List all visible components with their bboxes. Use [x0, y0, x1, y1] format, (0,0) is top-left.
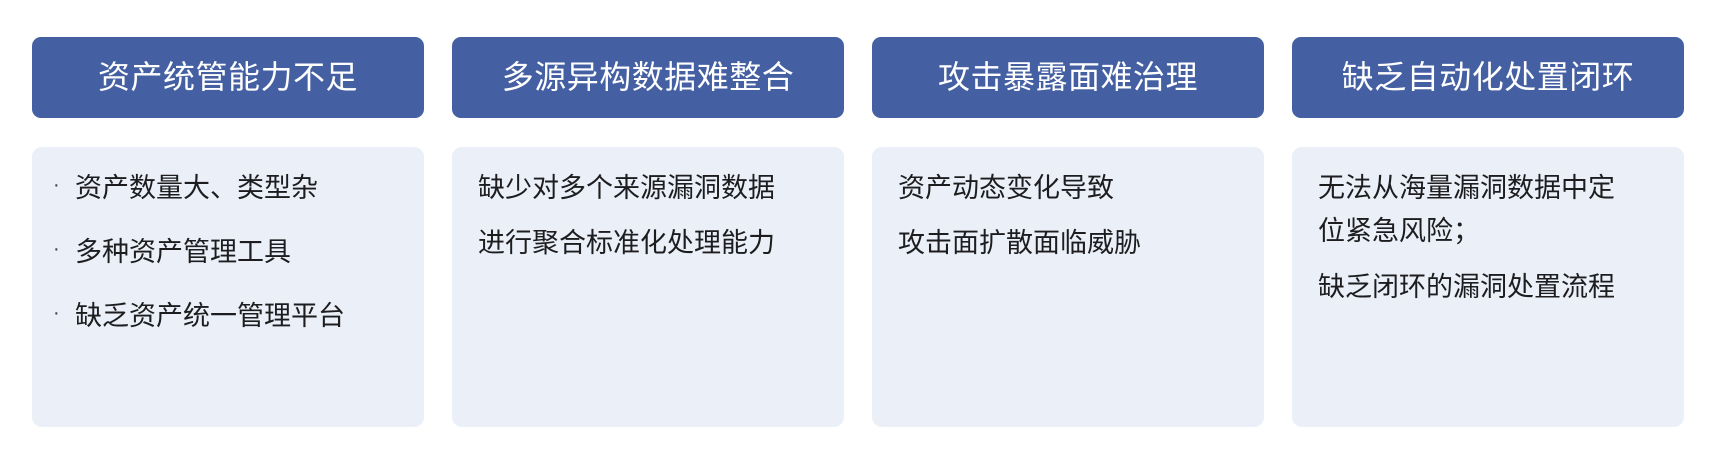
text-line: 缺乏闭环的漏洞处置流程 — [1318, 272, 1666, 303]
card-body-automation-closed-loop: 无法从海量漏洞数据中定 位紧急风险； 缺乏闭环的漏洞处置流程 — [1292, 147, 1684, 427]
text-block-automation-closed-loop: 无法从海量漏洞数据中定 位紧急风险； 缺乏闭环的漏洞处置流程 — [1306, 173, 1670, 303]
list-item: · 资产数量大、类型杂 — [46, 173, 410, 204]
text-line: 进行聚合标准化处理能力 — [478, 228, 826, 259]
list-item: · 缺乏资产统一管理平台 — [46, 301, 410, 332]
bullet-list-asset-governance: · 资产数量大、类型杂 · 多种资产管理工具 · 缺乏资产统一管理平台 — [46, 173, 410, 332]
list-item: · 多种资产管理工具 — [46, 237, 410, 268]
card-header-asset-governance: 资产统管能力不足 — [32, 37, 424, 118]
text-line: 无法从海量漏洞数据中定 — [1318, 173, 1666, 204]
card-multi-source-data: 多源异构数据难整合 缺少对多个来源漏洞数据 进行聚合标准化处理能力 — [452, 37, 844, 427]
card-body-asset-governance: · 资产数量大、类型杂 · 多种资产管理工具 · 缺乏资产统一管理平台 — [32, 147, 424, 427]
card-body-multi-source-data: 缺少对多个来源漏洞数据 进行聚合标准化处理能力 — [452, 147, 844, 427]
text-line: 资产动态变化导致 — [898, 173, 1246, 204]
card-header-automation-closed-loop: 缺乏自动化处置闭环 — [1292, 37, 1684, 118]
list-item-label: 缺乏资产统一管理平台 — [75, 301, 410, 332]
text-line: 攻击面扩散面临威胁 — [898, 228, 1246, 259]
card-header-multi-source-data: 多源异构数据难整合 — [452, 37, 844, 118]
bullet-point-icon: · — [53, 301, 75, 326]
text-line: 位紧急风险； — [1318, 216, 1666, 247]
card-header-attack-surface: 攻击暴露面难治理 — [872, 37, 1264, 118]
text-line: 缺少对多个来源漏洞数据 — [478, 173, 826, 204]
card-attack-surface: 攻击暴露面难治理 资产动态变化导致 攻击面扩散面临威胁 — [872, 37, 1264, 427]
problem-cards-board: 资产统管能力不足 · 资产数量大、类型杂 · 多种资产管理工具 · 缺乏资产统一… — [0, 0, 1712, 458]
card-body-attack-surface: 资产动态变化导致 攻击面扩散面临威胁 — [872, 147, 1264, 427]
card-asset-governance: 资产统管能力不足 · 资产数量大、类型杂 · 多种资产管理工具 · 缺乏资产统一… — [32, 37, 424, 427]
bullet-point-icon: · — [53, 173, 75, 198]
list-item-label: 资产数量大、类型杂 — [75, 173, 410, 204]
text-block-attack-surface: 资产动态变化导致 攻击面扩散面临威胁 — [886, 173, 1250, 260]
list-item-label: 多种资产管理工具 — [75, 237, 410, 268]
text-block-multi-source-data: 缺少对多个来源漏洞数据 进行聚合标准化处理能力 — [466, 173, 830, 260]
card-automation-closed-loop: 缺乏自动化处置闭环 无法从海量漏洞数据中定 位紧急风险； 缺乏闭环的漏洞处置流程 — [1292, 37, 1684, 427]
bullet-point-icon: · — [53, 237, 75, 262]
